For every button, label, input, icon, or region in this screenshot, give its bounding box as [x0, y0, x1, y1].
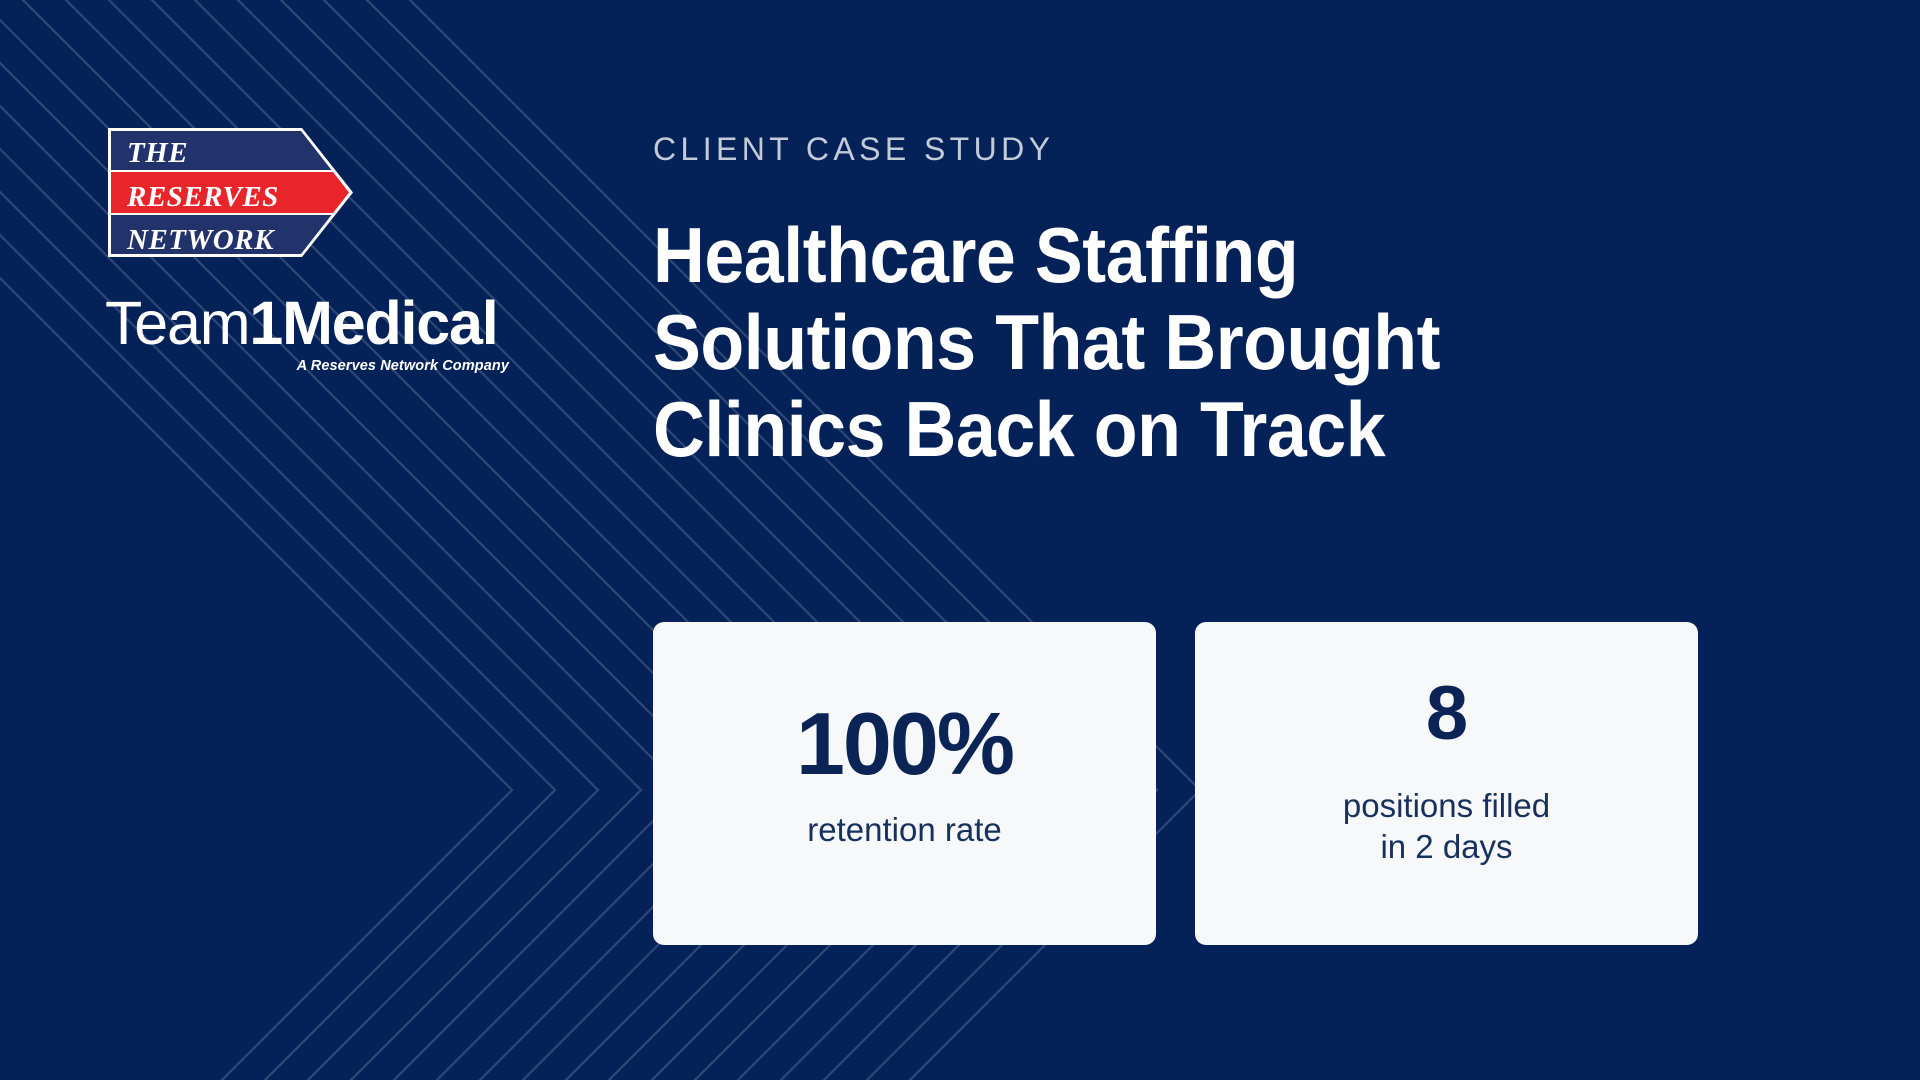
stat-value: 100%: [796, 700, 1013, 788]
trn-line-1: THE: [127, 137, 188, 169]
stat-label: positions filled in 2 days: [1343, 786, 1550, 867]
page-title: Healthcare Staffing Solutions That Broug…: [653, 212, 1628, 473]
team1medical-logo: Team1Medical A Reserves Network Company: [105, 293, 525, 374]
content-column: CLIENT CASE STUDY Healthcare Staffing So…: [653, 133, 1713, 473]
stat-value: 8: [1426, 676, 1467, 752]
stat-card-row: 100% retention rate 8 positions filled i…: [653, 622, 1698, 945]
eyebrow-label: CLIENT CASE STUDY: [653, 133, 1713, 165]
trn-line-2: RESERVES: [126, 181, 279, 213]
the-reserves-network-logo: THE RESERVES NETWORK: [105, 125, 355, 260]
team1medical-word-bold: 1Medical: [249, 289, 497, 357]
stat-card-positions-filled: 8 positions filled in 2 days: [1195, 622, 1698, 945]
team1medical-tagline: A Reserves Network Company: [105, 358, 509, 374]
stat-label: retention rate: [807, 810, 1001, 850]
logo-column: THE RESERVES NETWORK Team1Medical A Rese…: [105, 125, 525, 260]
team1medical-word-light: Team: [105, 289, 249, 357]
team1medical-wordmark: Team1Medical: [105, 293, 525, 354]
stat-card-retention: 100% retention rate: [653, 622, 1156, 945]
trn-line-3: NETWORK: [126, 224, 275, 256]
